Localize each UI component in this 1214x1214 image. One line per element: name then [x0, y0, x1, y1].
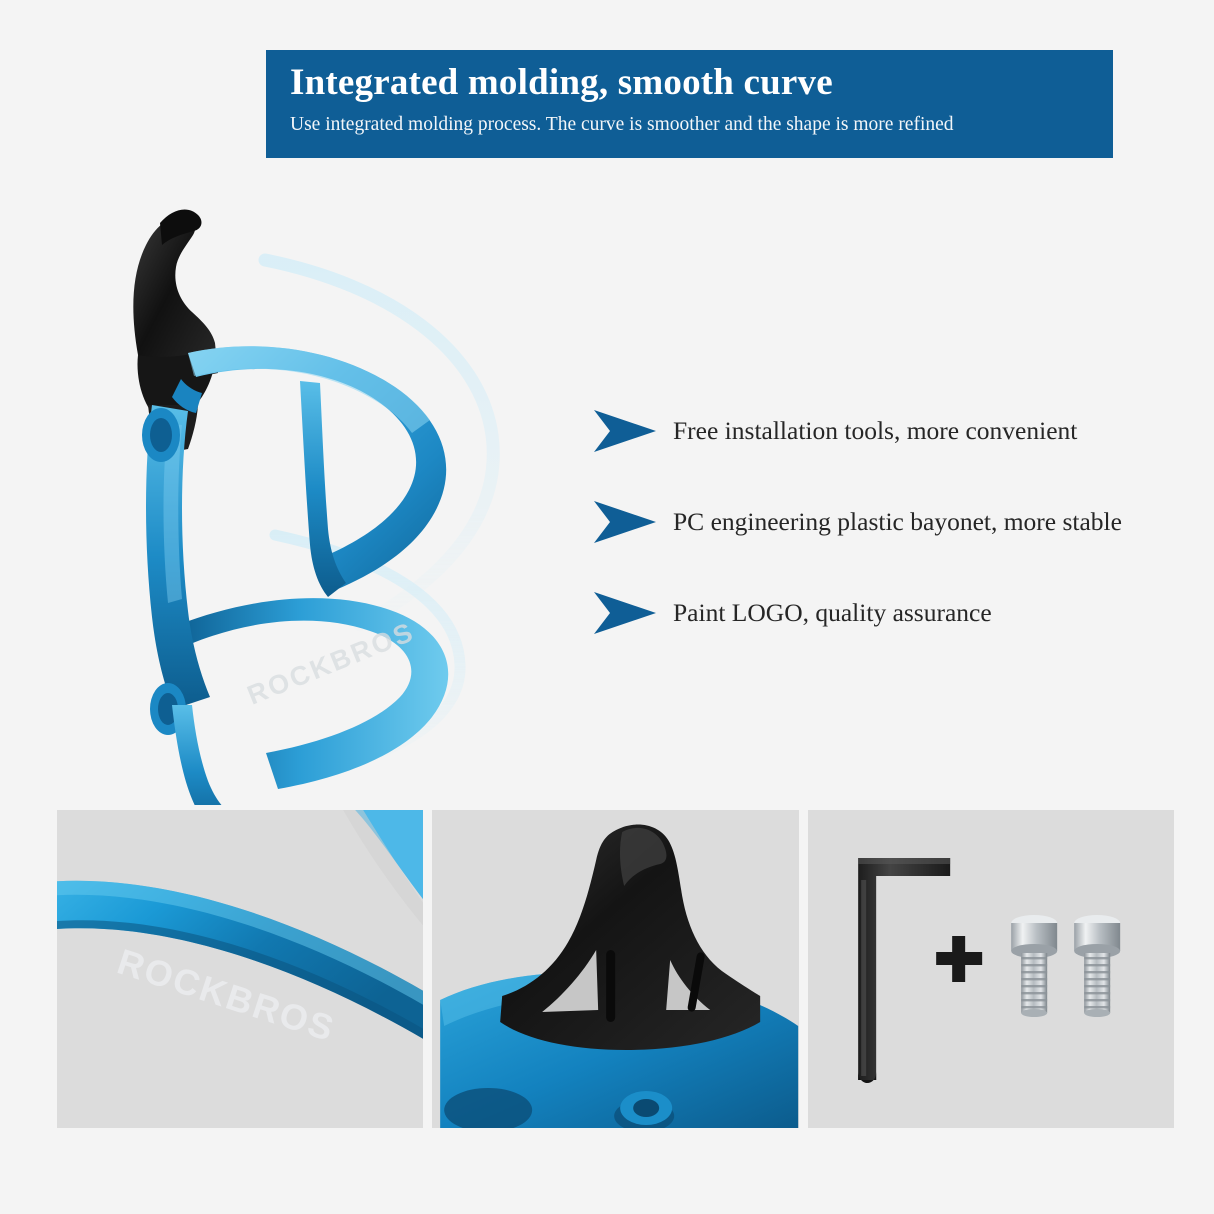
cage-lower-hoop: ROCKBROS: [178, 598, 448, 789]
feature-label: Paint LOGO, quality assurance: [673, 597, 992, 629]
product-glow: [265, 260, 493, 773]
panel-logo-closeup: ROCKBROS: [57, 810, 423, 1128]
feature-item: Paint LOGO, quality assurance: [592, 582, 1162, 644]
arrow-right-icon: [592, 406, 660, 456]
feature-label: Free installation tools, more convenient: [673, 415, 1077, 447]
feature-item: PC engineering plastic bayonet, more sta…: [592, 491, 1162, 553]
banner-title: Integrated molding, smooth curve: [290, 60, 1091, 106]
feature-label: PC engineering plastic bayonet, more sta…: [673, 506, 1122, 538]
detail-photo-strip: ROCKBROS: [57, 810, 1174, 1128]
feature-item: Free installation tools, more convenient: [592, 400, 1162, 462]
product-infographic-page: Integrated molding, smooth curve Use int…: [0, 0, 1214, 1214]
hero-product-image: ROCKBROS: [60, 105, 530, 805]
mounting-boss-upper: [142, 408, 180, 462]
hero-brand-text: ROCKBROS: [243, 616, 419, 710]
panel-plastic-bayonet-closeup: [432, 810, 798, 1128]
arrow-right-icon: [592, 497, 660, 547]
arrow-right-icon: [592, 588, 660, 638]
panel-installation-tools: [808, 810, 1174, 1128]
feature-list: Free installation tools, more convenient…: [592, 400, 1162, 644]
